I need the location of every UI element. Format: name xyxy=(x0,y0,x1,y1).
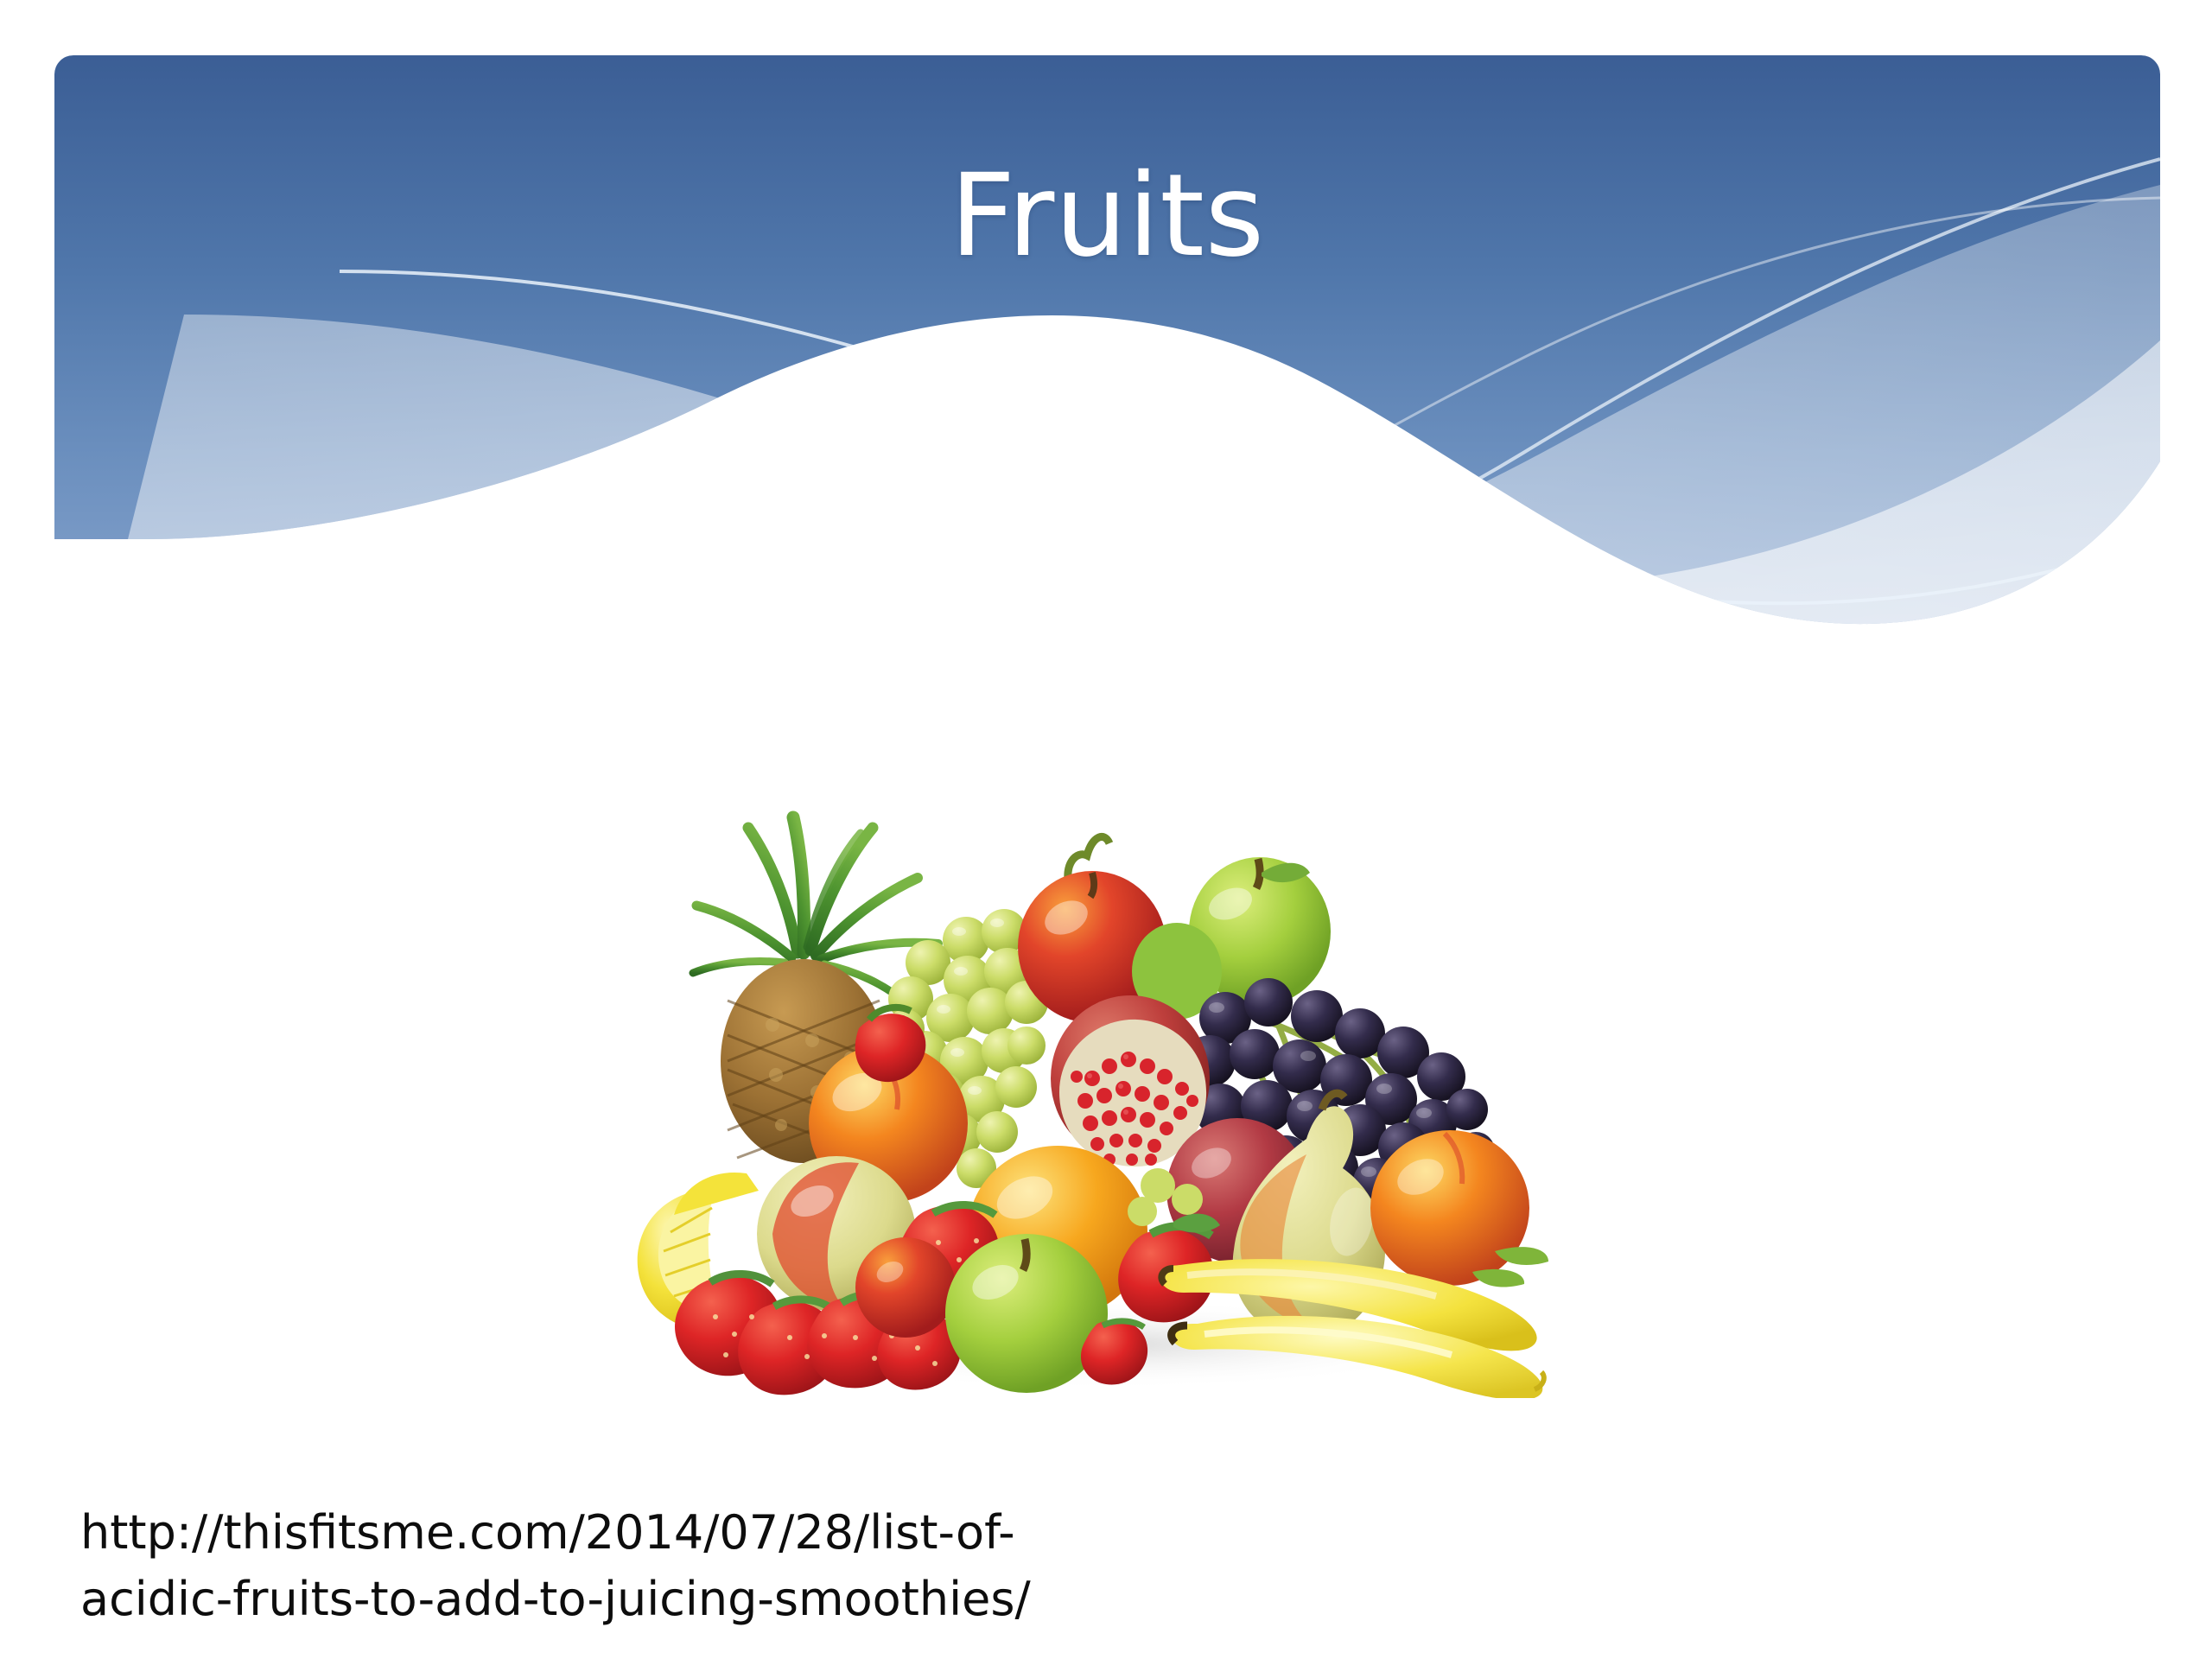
apple-red-bottom xyxy=(855,1237,956,1338)
presentation-slide: Fruits xyxy=(0,0,2212,1659)
source-url-line-1: http://thisfitsme.com/2014/07/28/list-of… xyxy=(80,1500,1160,1567)
fruit-photo-illustration xyxy=(620,802,1549,1398)
source-url-line-2: acidic-fruits-to-add-to-juicing-smoothie… xyxy=(80,1567,1160,1633)
slide-header-banner xyxy=(54,55,2160,626)
fruit-assortment-image xyxy=(620,802,1549,1398)
page-title: Fruits xyxy=(54,154,2160,279)
header-wave-graphic xyxy=(54,55,2160,626)
source-url-caption[interactable]: http://thisfitsme.com/2014/07/28/list-of… xyxy=(80,1500,1160,1632)
green-apple-bottom xyxy=(945,1234,1108,1393)
peach-right xyxy=(1370,1130,1529,1286)
